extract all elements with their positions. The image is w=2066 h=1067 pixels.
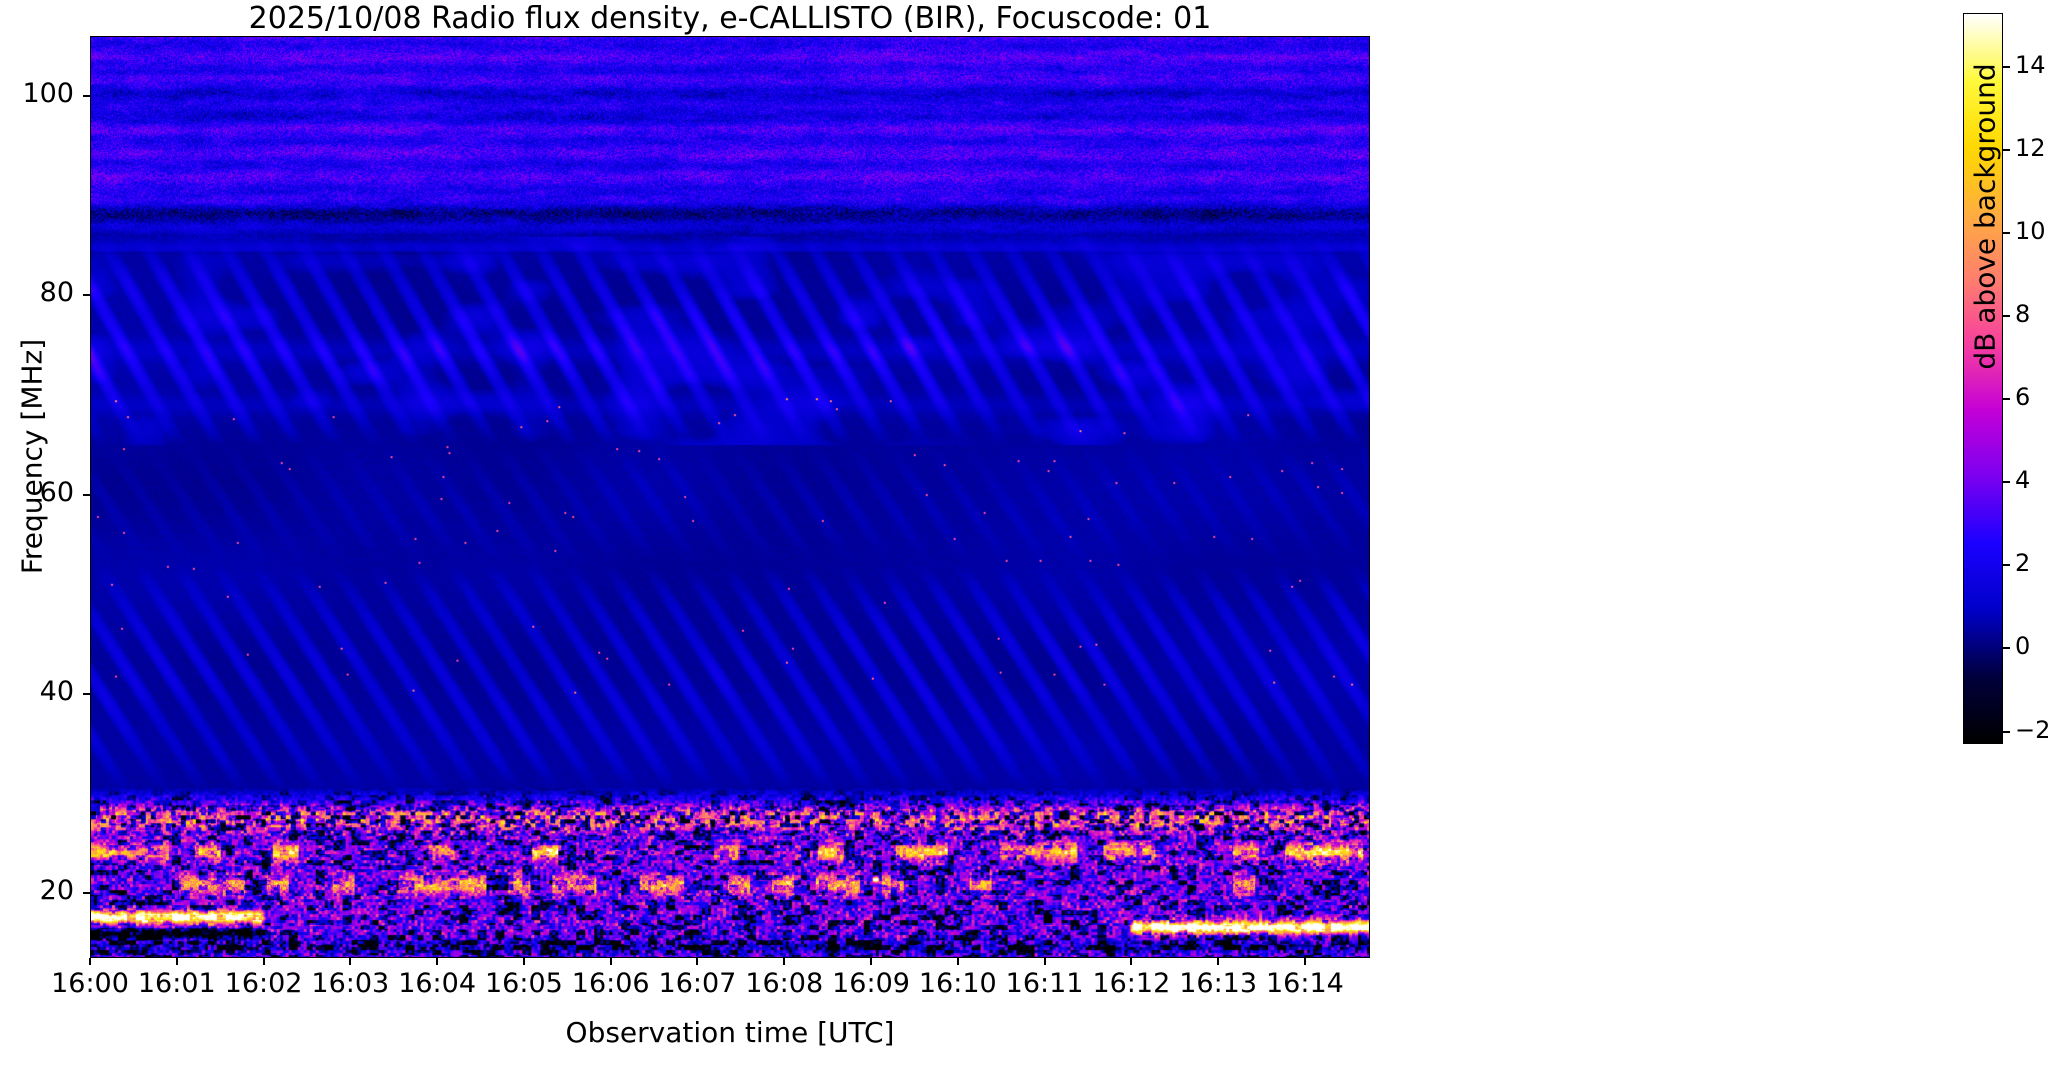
x-tick-mark [696,958,698,965]
y-tick-mark [83,892,90,894]
y-tick-label: 100 [0,78,74,109]
y-tick-label: 60 [0,477,74,508]
colorbar-tick-label: 4 [2015,466,2030,494]
x-tick-label: 16:05 [485,968,563,999]
x-tick-label: 16:07 [659,968,737,999]
x-tick-label: 16:11 [1006,968,1084,999]
x-tick-mark [1044,958,1046,965]
y-tick-mark [83,294,90,296]
colorbar-tick-label: −2 [2015,716,2050,744]
colorbar-tick-mark [2003,564,2010,566]
y-tick-label: 20 [0,875,74,906]
x-tick-mark [523,958,525,965]
colorbar-tick-mark [2003,647,2010,649]
y-tick-label: 40 [0,676,74,707]
colorbar-tick-mark [2003,315,2010,317]
x-tick-label: 16:03 [311,968,389,999]
colorbar-tick-label: 6 [2015,383,2030,411]
colorbar-tick-mark [2003,149,2010,151]
y-tick-mark [83,494,90,496]
x-tick-mark [783,958,785,965]
x-tick-label: 16:01 [138,968,216,999]
x-tick-mark [349,958,351,965]
colorbar-tick-mark [2003,66,2010,68]
colorbar-tick-label: 2 [2015,549,2030,577]
x-tick-mark [1304,958,1306,965]
x-tick-label: 16:14 [1266,968,1344,999]
x-tick-label: 16:00 [51,968,129,999]
x-tick-label: 16:09 [832,968,910,999]
colorbar-tick-mark [2003,731,2010,733]
x-tick-mark [870,958,872,965]
x-tick-label: 16:13 [1179,968,1257,999]
x-tick-mark [89,958,91,965]
y-tick-mark [83,95,90,97]
colorbar-tick-label: 10 [2015,217,2046,245]
x-tick-mark [263,958,265,965]
x-tick-label: 16:10 [919,968,997,999]
colorbar-tick-mark [2003,398,2010,400]
y-axis-label: Frequency [MHz] [16,157,49,757]
colorbar-tick-mark [2003,481,2010,483]
x-tick-mark [436,958,438,965]
x-axis-label: Observation time [UTC] [90,1016,1370,1049]
y-tick-mark [83,693,90,695]
colorbar-label: dB above background [1969,37,2002,397]
x-tick-mark [610,958,612,965]
x-tick-label: 16:08 [745,968,823,999]
x-tick-mark [1217,958,1219,965]
colorbar-tick-mark [2003,232,2010,234]
x-tick-mark [176,958,178,965]
spectrogram-axes[interactable] [90,36,1370,958]
x-tick-label: 16:12 [1092,968,1170,999]
spectrogram-image [91,37,1369,957]
x-tick-mark [1130,958,1132,965]
colorbar-tick-label: 0 [2015,632,2030,660]
x-tick-label: 16:04 [398,968,476,999]
x-tick-label: 16:02 [225,968,303,999]
colorbar-tick-label: 12 [2015,134,2046,162]
x-tick-mark [957,958,959,965]
y-tick-label: 80 [0,277,74,308]
spectrogram-figure: 2025/10/08 Radio flux density, e-CALLIST… [0,0,2066,1067]
colorbar-tick-label: 8 [2015,300,2030,328]
x-tick-label: 16:06 [572,968,650,999]
colorbar-tick-label: 14 [2015,51,2046,79]
page-title: 2025/10/08 Radio flux density, e-CALLIST… [90,2,1370,36]
